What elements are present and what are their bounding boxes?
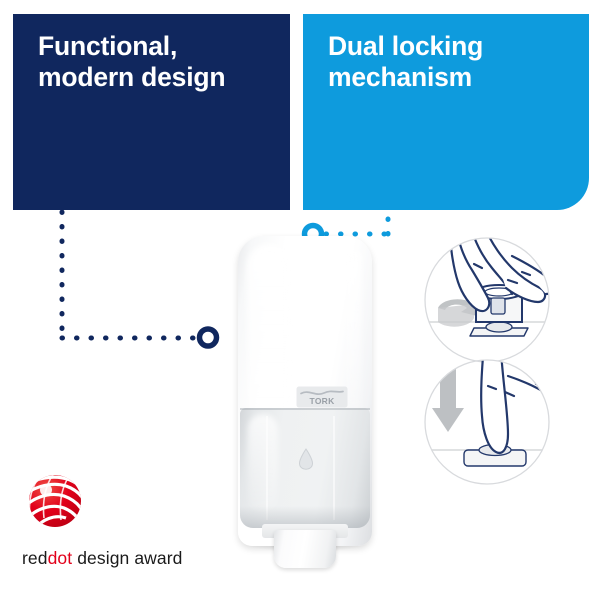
panel-dual-locking-mechanism: Dual locking mechanism [303,14,589,210]
finger-pressing-lock-icon [481,338,562,453]
panel-title-functional-modern-design: Functional, modern design [38,31,278,93]
navy-callout-ring [200,329,217,346]
svg-text:TORK: TORK [310,396,336,406]
illustration-press-lock [420,338,562,466]
refill-rib [333,416,335,520]
dispenser-product-image: TORK [238,236,372,568]
illustration-twist-lock [420,236,554,336]
reddot-text-red: red [22,548,48,568]
tork-logo: TORK [296,386,348,408]
reddot-sphere-logo [24,468,86,530]
soap-drop-icon [298,448,314,470]
product-feature-graphic: Functional, modern design Dual locking m… [0,0,600,600]
reddot-design-award: reddot design award [24,468,86,535]
dispenser-body: TORK [238,236,372,546]
refill-window-sheen [248,414,278,514]
reddot-text-design-award: design award [72,548,182,568]
reddot-text-dot: dot [48,548,73,568]
dispenser-push-lever[interactable] [274,530,336,568]
panel-functional-modern-design: Functional, modern design [13,14,290,210]
refill-rib [266,416,268,520]
dispenser-refill-window [240,408,370,528]
panel-title-dual-locking-mechanism: Dual locking mechanism [328,31,568,93]
blue-callout-line [326,212,388,234]
locking-mechanism-illustrations [412,236,562,488]
navy-callout-line [62,212,198,338]
reddot-award-text: reddot design award [22,548,183,569]
